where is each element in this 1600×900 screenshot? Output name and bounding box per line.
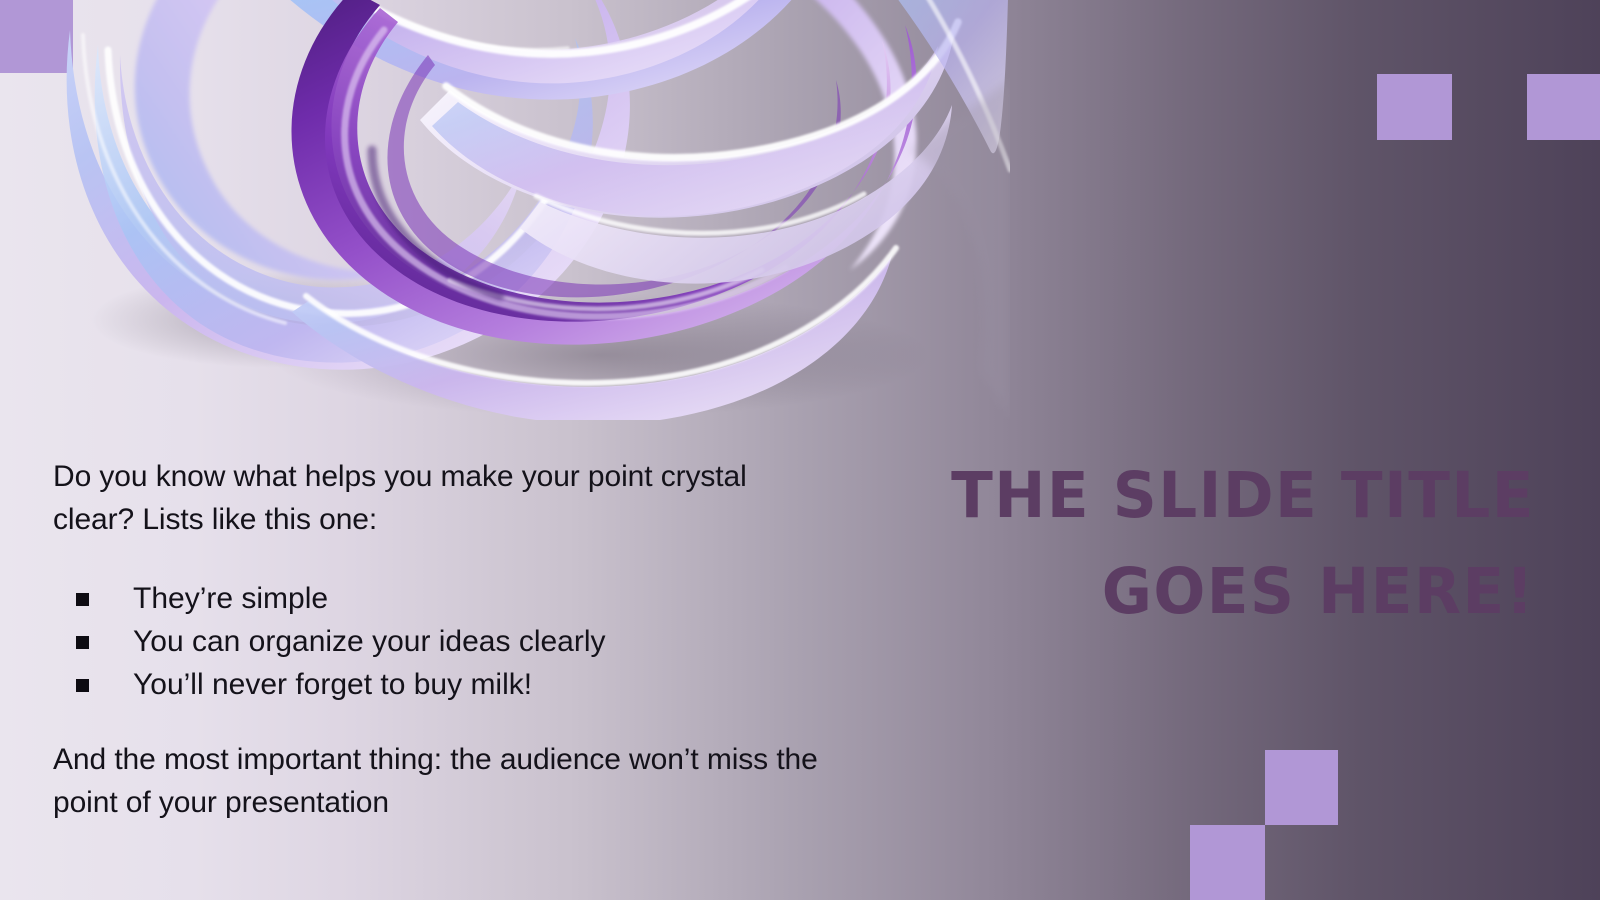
square-bullet-icon — [76, 636, 89, 649]
bottom-right-square-lower — [1190, 825, 1265, 900]
top-right-square-b — [1527, 74, 1600, 140]
slide-title: THE SLIDE TITLE GOES HERE! — [798, 448, 1535, 640]
list-item: They’re simple — [53, 577, 833, 620]
bottom-right-square-upper — [1265, 750, 1338, 825]
presentation-slide: THE SLIDE TITLE GOES HERE! Do you know w… — [0, 0, 1600, 900]
closing-paragraph: And the most important thing: the audien… — [53, 738, 833, 824]
intro-paragraph: Do you know what helps you make your poi… — [53, 455, 833, 541]
top-left-square — [0, 0, 73, 73]
list-item-label: You’ll never forget to buy milk! — [133, 668, 532, 701]
slide-body-content: Do you know what helps you make your poi… — [53, 455, 833, 824]
slide-title-line-1: THE SLIDE TITLE — [798, 448, 1535, 544]
list-item: You can organize your ideas clearly — [53, 620, 833, 663]
square-bullet-icon — [76, 679, 89, 692]
abstract-3d-knot-illustration — [0, 0, 1010, 420]
list-item-label: They’re simple — [133, 582, 328, 615]
square-bullet-icon — [76, 593, 89, 606]
top-right-square-a — [1377, 74, 1452, 140]
bullet-list: They’re simple You can organize your ide… — [53, 577, 833, 706]
slide-title-line-2: GOES HERE! — [798, 544, 1535, 640]
list-item-label: You can organize your ideas clearly — [133, 625, 606, 658]
list-item: You’ll never forget to buy milk! — [53, 663, 833, 706]
